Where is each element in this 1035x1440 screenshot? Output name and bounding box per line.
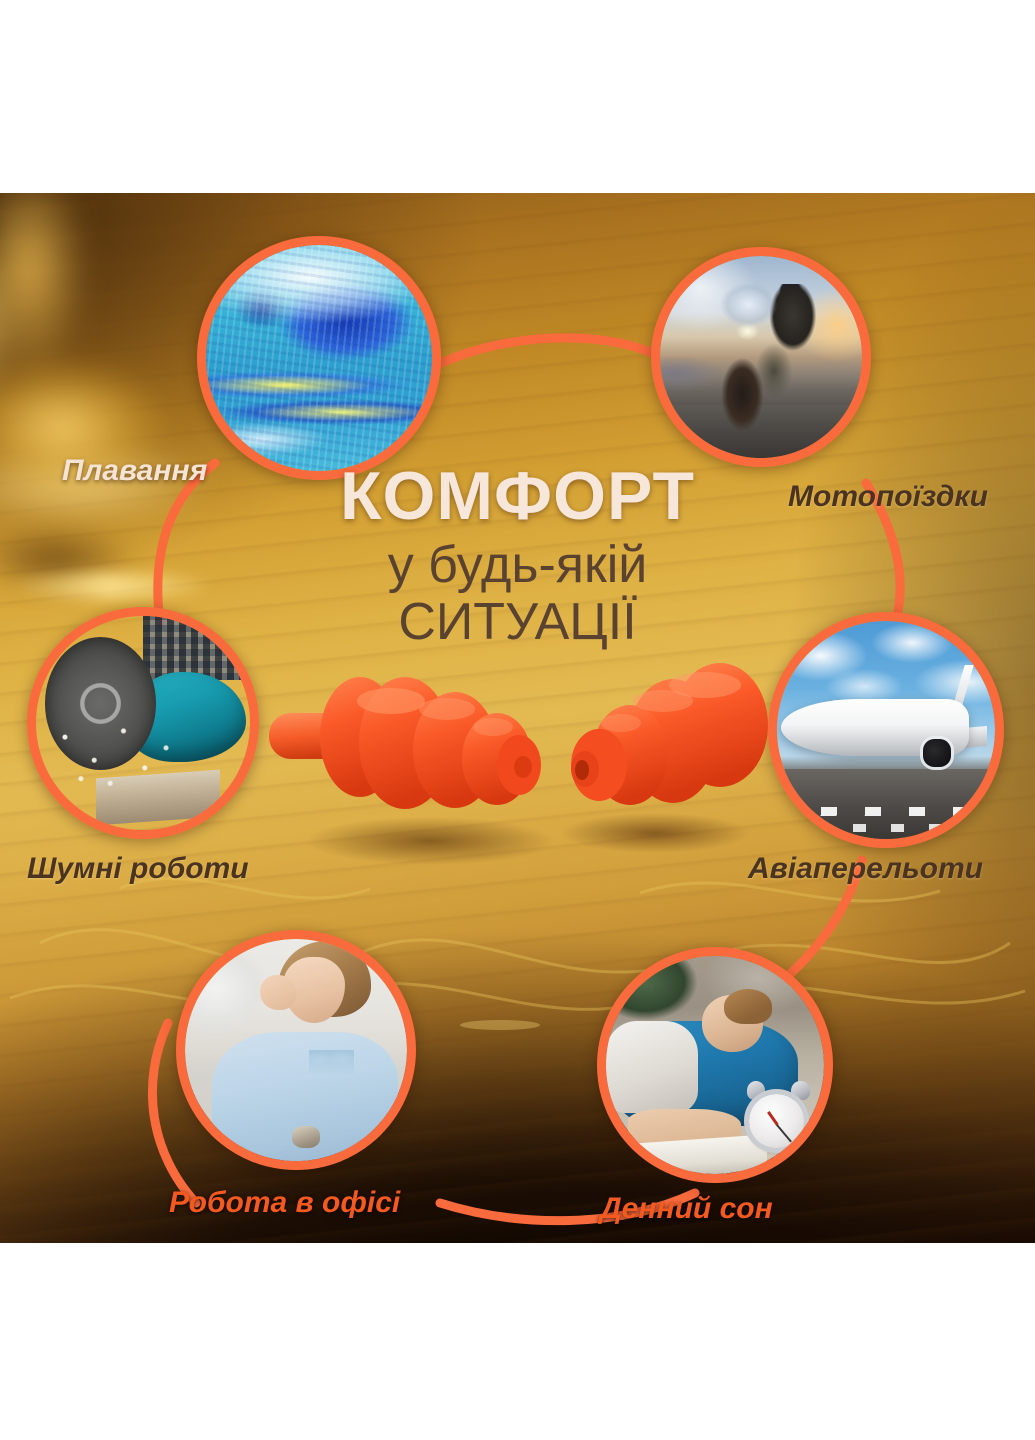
- node-noisy-work[interactable]: [27, 607, 259, 839]
- node-motorcycle[interactable]: [651, 247, 871, 467]
- alarm-bell-right: [791, 1081, 809, 1100]
- clock-face: [749, 1094, 804, 1147]
- jet-engine: [923, 739, 951, 767]
- airplane-photo: [777, 621, 995, 839]
- wristwatch: [292, 1126, 321, 1148]
- power-saw-photo: [36, 616, 250, 830]
- alarm-clock: [746, 1078, 811, 1152]
- sleeping-man-photo: [606, 956, 824, 1174]
- motorcycle-and-rider: [713, 284, 818, 442]
- runway: [777, 769, 995, 839]
- office-headache-photo: [185, 939, 407, 1161]
- worker-plaid-shirt: [143, 612, 241, 680]
- white-tshirt: [606, 1021, 698, 1113]
- gold-highlight-streak: [8, 573, 208, 599]
- node-swimming[interactable]: [197, 236, 441, 480]
- swimming-photo: [206, 245, 432, 471]
- node-daytime-sleep[interactable]: [597, 947, 833, 1183]
- node-air-travel[interactable]: [768, 612, 1004, 848]
- clock-minute-hand: [776, 1125, 792, 1143]
- hair: [724, 989, 772, 1024]
- blouse-bow: [309, 1050, 353, 1086]
- motorcycle-photo: [660, 256, 862, 458]
- hand-on-forehead: [260, 975, 296, 1011]
- dust-sparks: [49, 714, 182, 791]
- node-office-work[interactable]: [176, 930, 416, 1170]
- product-infographic-poster: КОМФОРТ у будь-якій СИТУАЦІЇ Плавання Мо…: [0, 0, 1035, 1440]
